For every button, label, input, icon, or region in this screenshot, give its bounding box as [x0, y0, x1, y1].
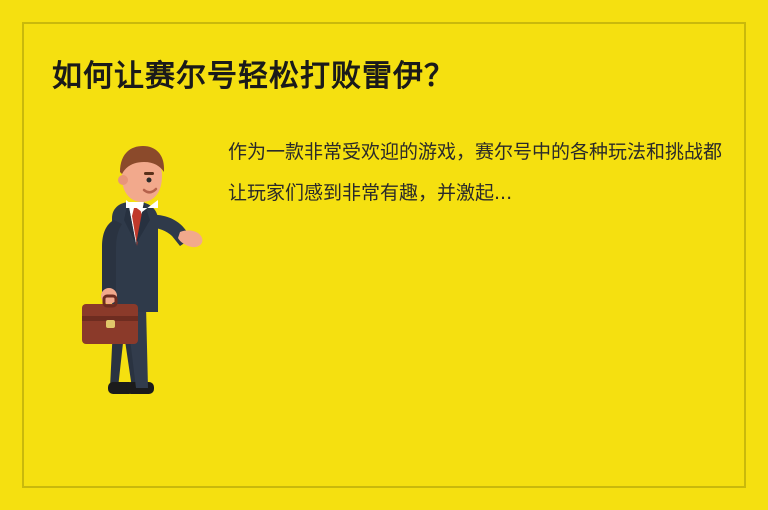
businessman-illustration [68, 120, 208, 420]
page-title: 如何让赛尔号轻松打败雷伊？ [52, 58, 455, 96]
poster-canvas: 如何让赛尔号轻松打败雷伊？ 作为一款非常受欢迎的游戏，赛尔号中的各种玩法和挑战都… [0, 0, 768, 510]
suit-jacket [112, 202, 158, 312]
article-excerpt: 作为一款非常受欢迎的游戏，赛尔号中的各种玩法和挑战都让玩家们感到非常有趣，并激起… [228, 132, 728, 214]
